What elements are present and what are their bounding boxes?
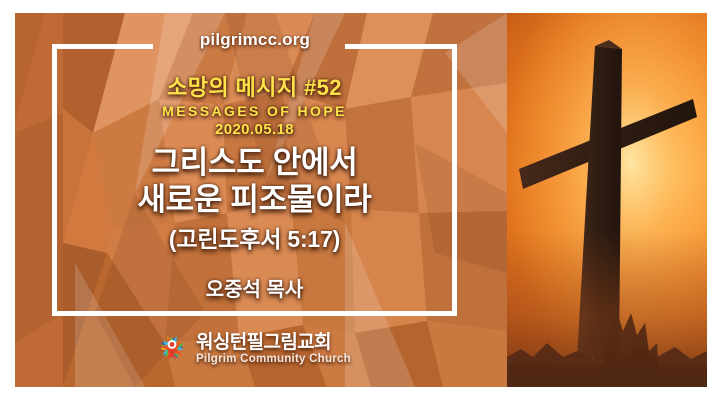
scripture-reference: (고린도후서 5:17) — [62, 220, 447, 254]
series-title-english: MESSAGES OF HOPE — [62, 103, 447, 119]
frame-left-segment — [52, 44, 57, 316]
sermon-title-slide: pilgrimcc.org 소망의 메시지 #52 MESSAGES OF HO… — [0, 0, 720, 405]
sermon-title-line-2: 새로운 피조물이라 — [62, 182, 447, 219]
frame-top-left-segment — [52, 44, 153, 49]
series-heading-block: 소망의 메시지 #52 MESSAGES OF HOPE 2020.05.18 — [62, 70, 447, 138]
frame-top-right-segment — [345, 44, 457, 49]
frame-right-segment — [452, 44, 457, 316]
church-name-english: Pilgrim Community Church — [196, 354, 351, 366]
series-title-korean: 소망의 메시지 #52 — [62, 70, 447, 102]
sermon-date: 2020.05.18 — [62, 121, 447, 138]
church-name-block: 워싱턴필그림교회 Pilgrim Community Church — [196, 333, 351, 366]
church-name-korean: 워싱턴필그림교회 — [196, 333, 351, 352]
speaker-name: 오중석 목사 — [62, 273, 447, 302]
cross-sunset-photo — [507, 13, 707, 387]
site-url-text: pilgrimcc.org — [155, 30, 355, 50]
sermon-title-line-1: 그리스도 안에서 — [62, 145, 447, 182]
star-people-logo-icon — [155, 333, 189, 365]
slide-canvas: pilgrimcc.org 소망의 메시지 #52 MESSAGES OF HO… — [15, 13, 707, 387]
church-logo-lockup: 워싱턴필그림교회 Pilgrim Community Church — [155, 333, 351, 366]
frame-bottom-segment — [52, 311, 457, 316]
sermon-title-block: 그리스도 안에서 새로운 피조물이라 (고린도후서 5:17) — [62, 145, 447, 254]
cross-silhouette-graphic — [507, 13, 707, 387]
